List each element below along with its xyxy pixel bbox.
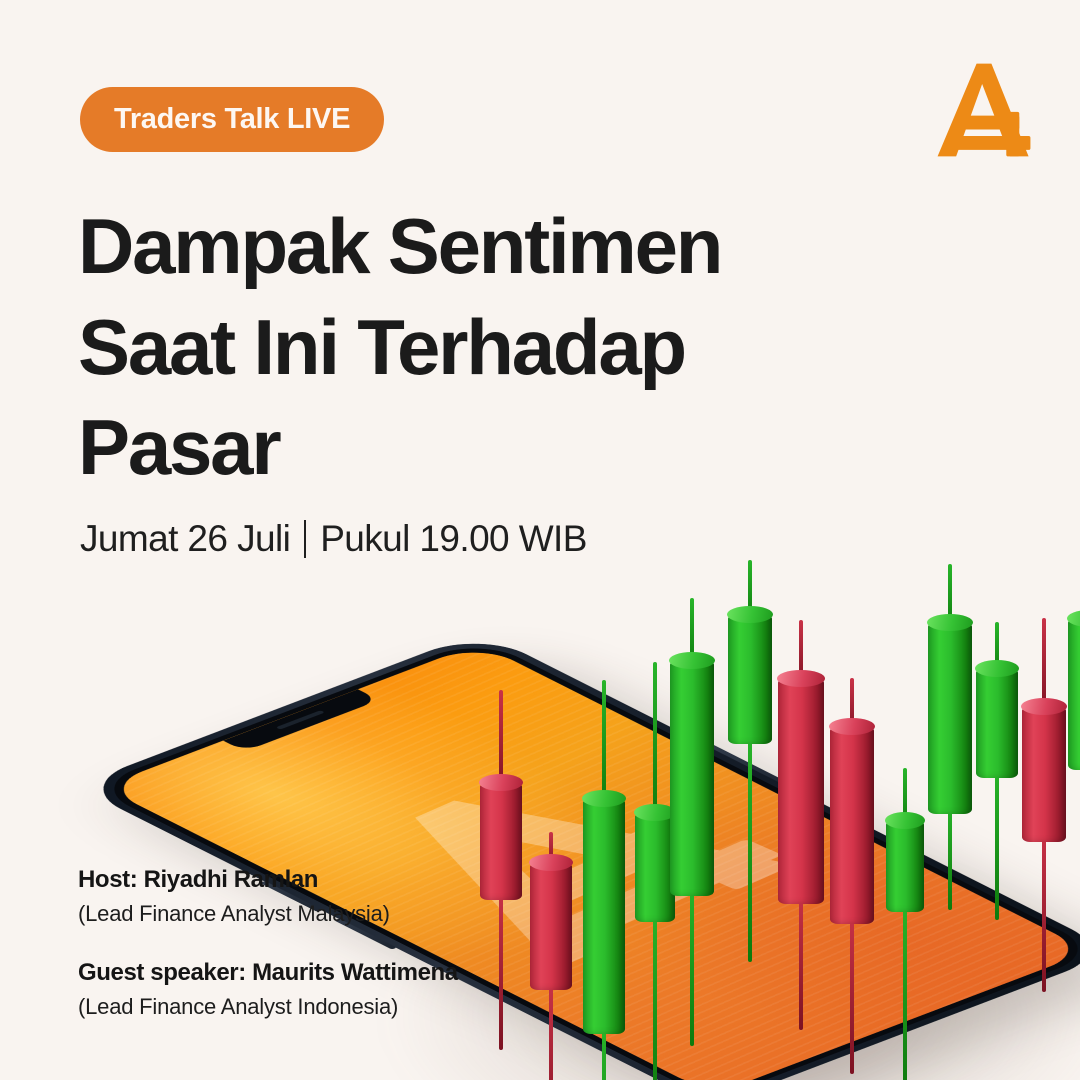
candle-upper-wick xyxy=(948,564,952,632)
candle-upper-wick xyxy=(850,678,854,736)
speaker-guest: Guest speaker: Maurits Wattimena (Lead F… xyxy=(78,959,458,1020)
candle-body xyxy=(1068,618,1080,770)
candle-top-cap xyxy=(885,812,925,829)
candle-top-cap xyxy=(1021,698,1067,715)
headline-line-3: Pasar xyxy=(78,397,778,498)
speaker-name: Guest speaker: Maurits Wattimena xyxy=(78,959,458,987)
headline-line-2: Saat Ini Terhadap xyxy=(78,297,778,398)
candle-upper-wick xyxy=(903,768,907,830)
candle-upper-wick xyxy=(799,620,803,688)
candlestick-up xyxy=(1068,554,1080,900)
live-badge[interactable]: Traders Talk LIVE xyxy=(80,87,384,152)
candle-top-cap xyxy=(669,652,715,669)
event-time: Pukul 19.00 WIB xyxy=(320,518,587,560)
speaker-host: Host: Riyadhi Ramlan (Lead Finance Analy… xyxy=(78,866,458,927)
candle-body xyxy=(1022,706,1066,842)
candle-upper-wick xyxy=(748,560,752,624)
candle-body xyxy=(728,614,772,744)
candle-body xyxy=(928,622,972,814)
headline-line-1: Dampak Sentimen xyxy=(78,196,778,297)
candle-upper-wick xyxy=(995,622,999,678)
poster-canvas: Traders Talk LIVE Dampak Sentimen Saat I… xyxy=(0,0,1080,1080)
speaker-role: (Lead Finance Analyst Indonesia) xyxy=(78,994,458,1020)
datetime-separator xyxy=(304,520,306,558)
speaker-role: (Lead Finance Analyst Malaysia) xyxy=(78,901,458,927)
candle-top-cap xyxy=(727,606,773,623)
candle-top-cap xyxy=(1067,610,1080,627)
event-date: Jumat 26 Juli xyxy=(80,518,290,560)
page-title: Dampak Sentimen Saat Ini Terhadap Pasar xyxy=(78,196,778,498)
speaker-list: Host: Riyadhi Ramlan (Lead Finance Analy… xyxy=(78,866,458,1020)
brand-a-logo-icon xyxy=(928,58,1040,162)
candle-upper-wick xyxy=(1042,618,1046,716)
event-datetime: Jumat 26 Juli Pukul 19.00 WIB xyxy=(80,518,587,560)
candle-top-cap xyxy=(777,670,825,687)
candle-top-cap xyxy=(975,660,1019,677)
speaker-name: Host: Riyadhi Ramlan xyxy=(78,866,458,894)
live-badge-label: Traders Talk LIVE xyxy=(114,103,350,136)
candle-upper-wick xyxy=(690,598,694,670)
candle-top-cap xyxy=(829,718,875,735)
candle-top-cap xyxy=(927,614,973,631)
candle-body xyxy=(976,668,1018,778)
